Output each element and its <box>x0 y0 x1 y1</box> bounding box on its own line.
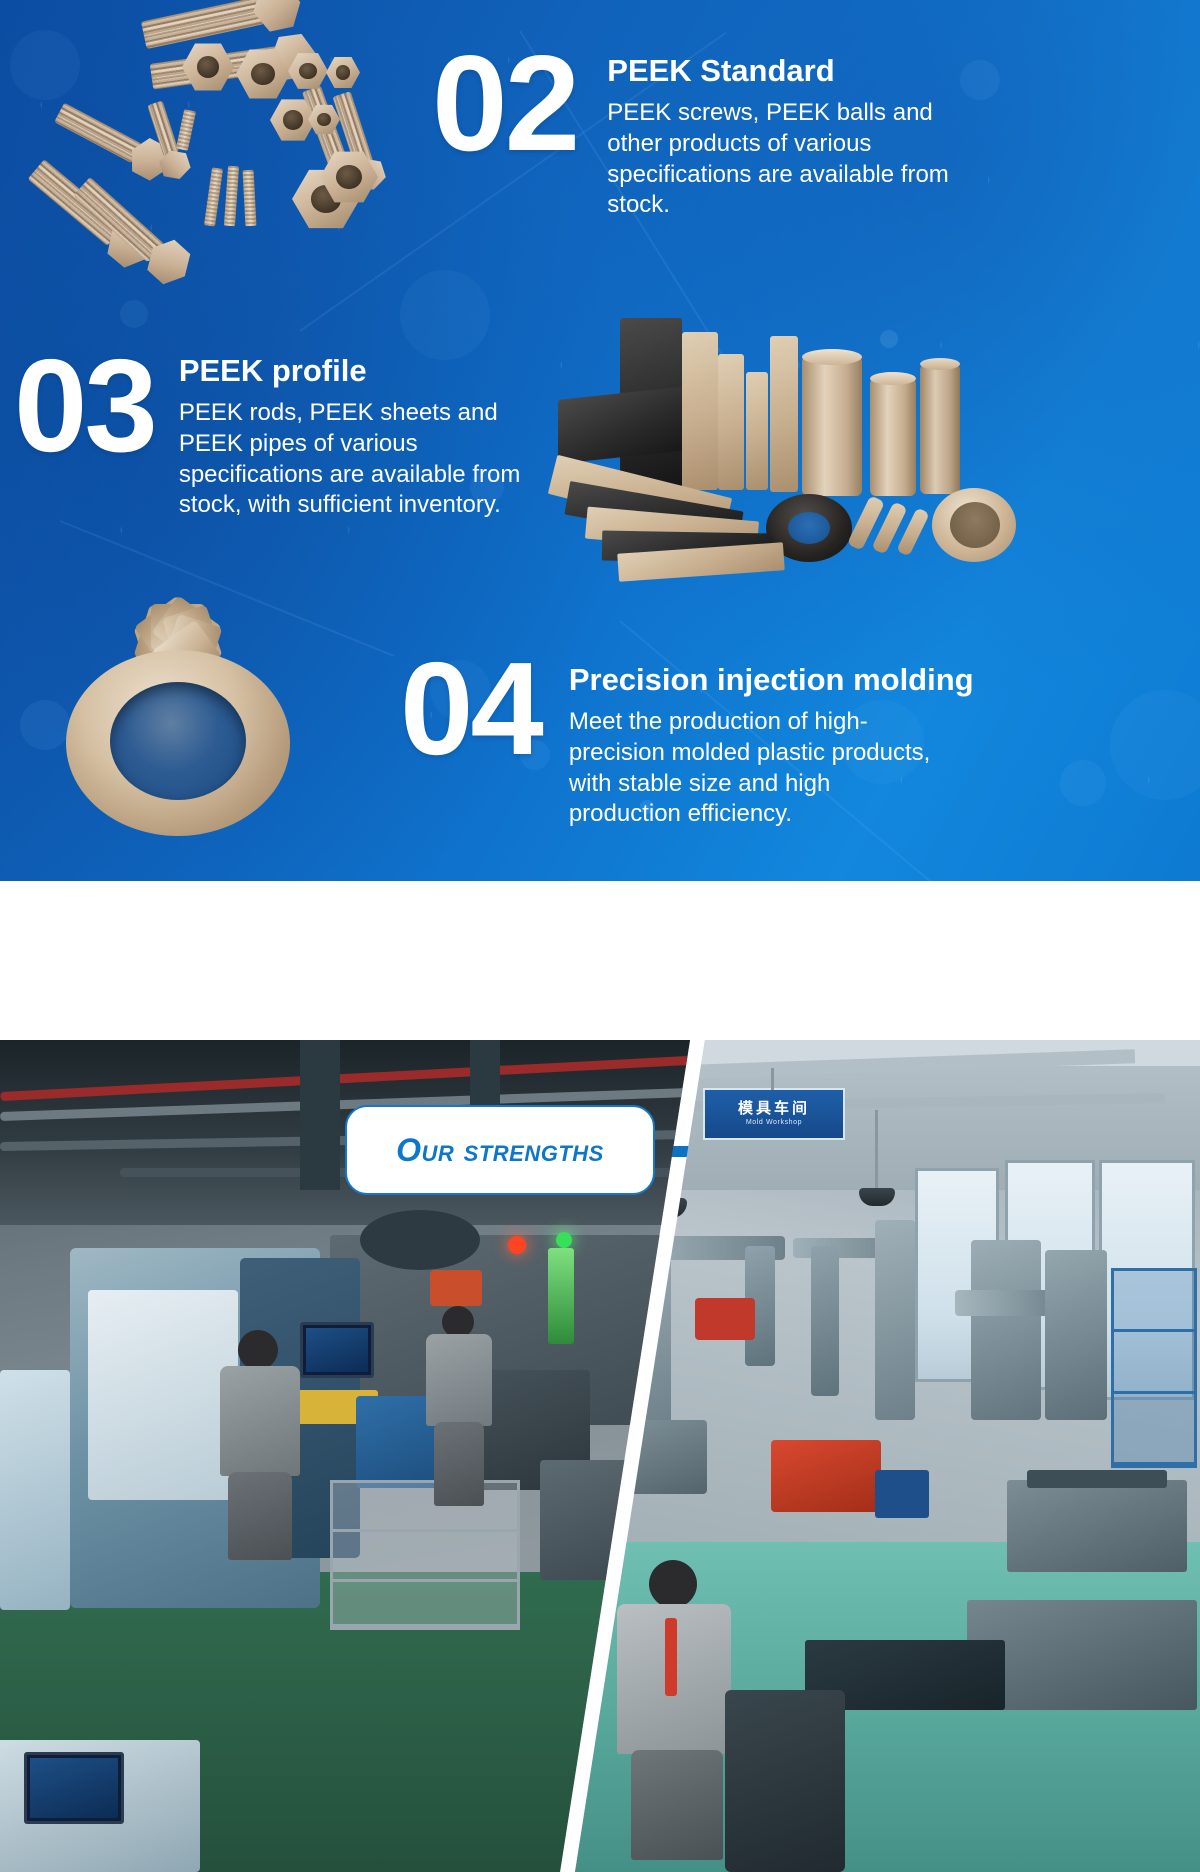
feature-number-02: 02 <box>432 48 577 160</box>
feature-block-03: 03 PEEK profile PEEK rods, PEEK sheets a… <box>14 352 531 521</box>
feature-desc-03: PEEK rods, PEEK sheets and PEEK pipes of… <box>179 398 531 521</box>
feature-desc-04: Meet the production of high-precision mo… <box>569 707 937 830</box>
peek-profile-image <box>540 300 1050 600</box>
feature-number-03: 03 <box>14 352 155 460</box>
worker-figure <box>420 1306 498 1506</box>
peek-screws-image <box>30 0 430 270</box>
product-feature-page: 02 PEEK Standard PEEK screws, PEEK balls… <box>0 0 1200 1872</box>
feature-title-02: PEEK Standard <box>607 54 979 88</box>
feature-desc-02: PEEK screws, PEEK balls and other produc… <box>607 98 979 221</box>
feature-title-03: PEEK profile <box>179 354 531 388</box>
feature-title-04: Precision injection molding <box>569 663 974 697</box>
worker-figure <box>212 1330 308 1560</box>
peek-gear-ring-image <box>40 628 316 858</box>
our-strengths-badge: Our strengths <box>345 1105 655 1195</box>
workshop-sign-cn: 模具车间 <box>738 1101 810 1117</box>
workshop-sign-en: Mold Workshop <box>746 1119 802 1126</box>
our-strengths-label: Our strengths <box>396 1132 604 1169</box>
worker-figure <box>609 1560 739 1860</box>
hero-panel: 02 PEEK Standard PEEK screws, PEEK balls… <box>0 0 1200 881</box>
feature-number-04: 04 <box>400 655 541 763</box>
strengths-band <box>0 881 1200 1041</box>
feature-block-02: 02 PEEK Standard PEEK screws, PEEK balls… <box>432 48 979 221</box>
workshop-sign: 模具车间 Mold Workshop <box>703 1088 845 1140</box>
feature-block-04: 04 Precision injection molding Meet the … <box>400 655 974 830</box>
